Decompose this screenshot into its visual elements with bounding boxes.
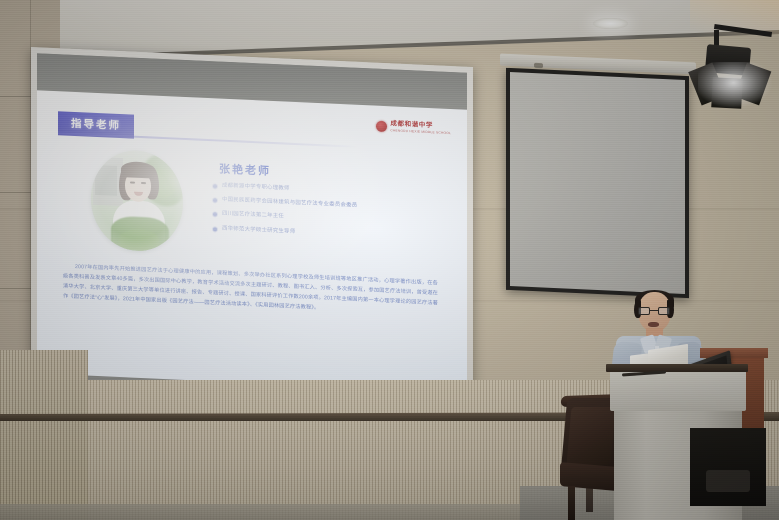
- school-name-en: CHENGDU HEXIE MIDDLE SCHOOL: [390, 129, 451, 135]
- biography-text: 2007年在国内率先开始推进园艺疗法于心理健康中的应用，课程策划、多次举办社区系…: [63, 264, 438, 312]
- podium-equipment: [706, 470, 750, 492]
- glasses-lens-left: [638, 307, 650, 315]
- chair-leg: [568, 486, 575, 520]
- podium-front-lip: [606, 364, 748, 372]
- school-seal-icon: [376, 121, 387, 132]
- list-item-label: 西华师范大学硕士研究生导师: [222, 225, 295, 235]
- floor-left: [0, 504, 530, 520]
- school-logo-text: 成都和谐中学 CHENGDU HEXIE MIDDLE SCHOOL: [390, 121, 451, 134]
- barn-door-bottom: [711, 77, 743, 109]
- credential-list: 成都新源中学专职心理教师 中国民族医药学会园林建筑与园艺疗法专业委员会委员 四川…: [213, 182, 463, 250]
- recessed-downlight-icon: [593, 18, 628, 29]
- glasses-icon: [638, 307, 671, 315]
- second-screen-surface: [510, 72, 685, 294]
- glasses-lens-right: [658, 307, 670, 315]
- glasses-bridge: [650, 310, 658, 311]
- podium-equipment-cavity: [690, 428, 766, 506]
- screen-surface: 指导老师 成都和谐中学 CHENGDU HEXIE MIDDLE SCHOOL: [37, 53, 467, 423]
- mouth: [648, 322, 659, 327]
- light-mount-arm: [714, 24, 772, 37]
- bullet-dot-icon: [213, 227, 217, 231]
- biography-paragraph: 2007年在国内率先开始推进园艺疗法于心理健康中的应用，课程策划、多次举办社区系…: [63, 261, 438, 319]
- list-item: 西华师范大学硕士研究生导师: [213, 225, 463, 243]
- list-item-label: 四川园艺疗法第二年主任: [222, 211, 284, 220]
- bullet-dot-icon: [213, 213, 217, 217]
- bullet-dot-icon: [213, 198, 217, 202]
- studio-light-fixture: [700, 18, 779, 138]
- second-screen-knob[interactable]: [534, 63, 543, 68]
- person-name: 张艳老师: [219, 161, 271, 179]
- second-projection-screen: [506, 68, 689, 298]
- list-item-label: 中国民族医药学会园林建筑与园艺疗法专业委员会委员: [222, 197, 357, 209]
- main-projection-screen: 指导老师 成都和谐中学 CHENGDU HEXIE MIDDLE SCHOOL: [31, 47, 473, 429]
- lecture-hall-scene: 指导老师 成都和谐中学 CHENGDU HEXIE MIDDLE SCHOOL: [0, 0, 779, 520]
- slide-content: 指导老师 成都和谐中学 CHENGDU HEXIE MIDDLE SCHOOL: [37, 90, 467, 393]
- bullet-dot-icon: [213, 184, 217, 188]
- school-logo: 成都和谐中学 CHENGDU HEXIE MIDDLE SCHOOL: [376, 121, 451, 135]
- portrait-photo: [91, 149, 183, 253]
- list-item-label: 成都新源中学专职心理教师: [222, 183, 290, 192]
- ribbed-wainscot-panel-left: [0, 350, 88, 520]
- banner-underline: [58, 132, 358, 147]
